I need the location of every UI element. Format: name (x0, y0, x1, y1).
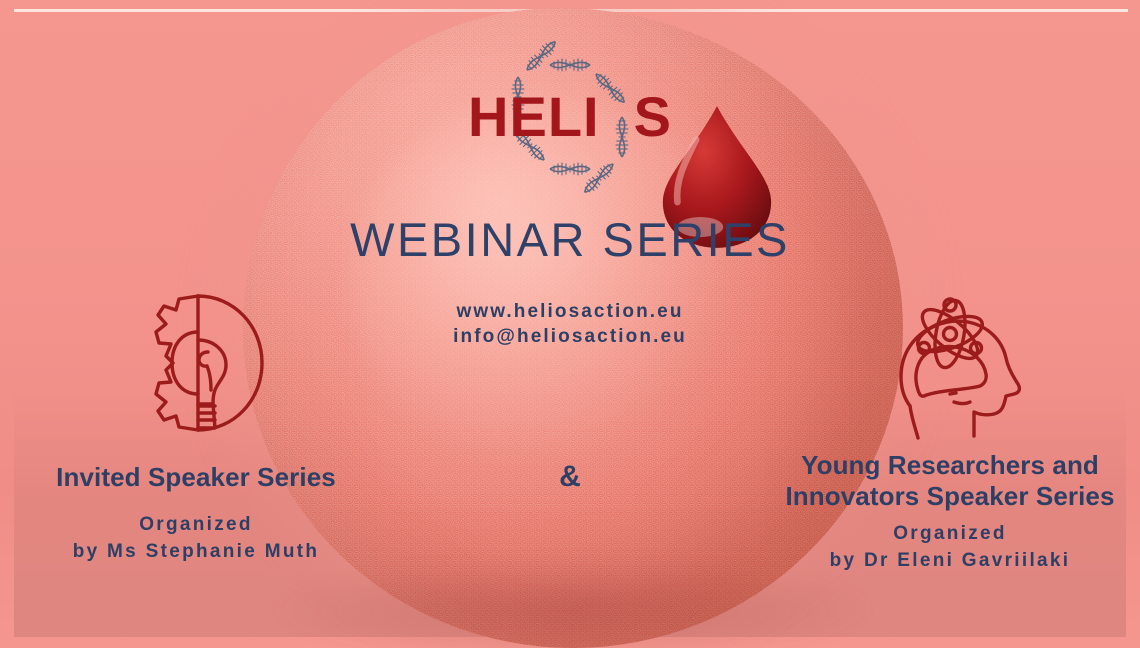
invited-speaker-series-organizer: Organized by Ms Stephanie Muth (10, 511, 382, 565)
young-researchers-title-line2: Innovators Speaker Series (770, 481, 1130, 512)
head-atom-icon (888, 286, 1038, 446)
young-researchers-series-title: Young Researchers and Innovators Speaker… (770, 450, 1130, 512)
young-researchers-series-organizer: Organized by Dr Eleni Gavriilaki (770, 520, 1130, 574)
organized-label-right: Organized (770, 520, 1130, 547)
helios-wordmark-before: HELI (468, 85, 600, 148)
helios-wordmark: HELI S (455, 89, 685, 145)
young-researchers-title-line1: Young Researchers and (770, 450, 1130, 481)
webinar-slide: HELI S WEBINAR SER (0, 0, 1140, 648)
young-researchers-series-column: Young Researchers and Innovators Speaker… (770, 450, 1130, 574)
helios-logo: HELI S (455, 42, 685, 192)
page-title: WEBINAR SERIES (0, 212, 1140, 267)
organized-label-left: Organized (10, 511, 382, 538)
organizer-name-right: by Dr Eleni Gavriilaki (770, 547, 1130, 574)
organizer-name-left: by Ms Stephanie Muth (10, 538, 382, 565)
gear-lightbulb-icon (120, 288, 280, 438)
